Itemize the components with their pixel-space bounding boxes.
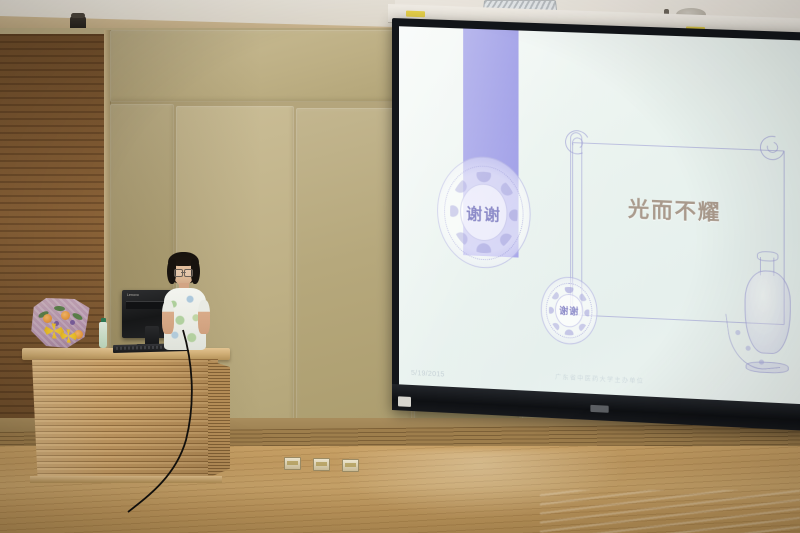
slide-content: 谢谢 光而不耀 谢谢	[399, 26, 800, 404]
presenter	[160, 252, 218, 350]
plum-branch-icon	[725, 310, 780, 373]
rose-icon	[43, 314, 52, 323]
screen-pull-tab[interactable]	[590, 405, 608, 413]
water-bottle	[99, 322, 107, 348]
wall-panel	[110, 30, 410, 102]
projection-screen[interactable]: 谢谢 光而不耀 谢谢	[392, 18, 800, 431]
floor-outlet-box[interactable]	[313, 458, 330, 471]
podium-front-panel	[32, 359, 218, 479]
floor-outlet-box[interactable]	[342, 459, 359, 472]
warning-label-left	[406, 11, 425, 18]
seal-large-text: 谢谢	[466, 200, 501, 226]
podium-side-panel	[208, 360, 230, 478]
eyeglasses-icon	[174, 269, 193, 275]
blossom-icon	[745, 346, 750, 351]
arm-left	[162, 300, 174, 334]
thank-you-seal-small: 谢谢	[541, 276, 597, 345]
arm-right	[198, 300, 210, 334]
lens-left	[174, 269, 183, 277]
flower-bouquet	[30, 296, 92, 350]
porcelain-vase-decor	[732, 248, 800, 382]
monitor-brand-label: Lenovo	[127, 293, 139, 297]
bud-icon	[70, 320, 75, 325]
projected-slide: 谢谢 光而不耀 谢谢	[399, 26, 800, 404]
lectern-podium	[22, 348, 230, 484]
presentation-hall-photo: 谢谢 光而不耀 谢谢	[0, 0, 800, 533]
screen-corner-clip	[398, 396, 411, 407]
seal-small-text: 谢谢	[559, 304, 579, 318]
rose-icon	[61, 311, 70, 320]
floor-outlet-box[interactable]	[284, 457, 301, 470]
floor-reflection-streaks	[540, 490, 800, 533]
podium-base	[30, 476, 222, 483]
lens-right	[184, 269, 193, 277]
